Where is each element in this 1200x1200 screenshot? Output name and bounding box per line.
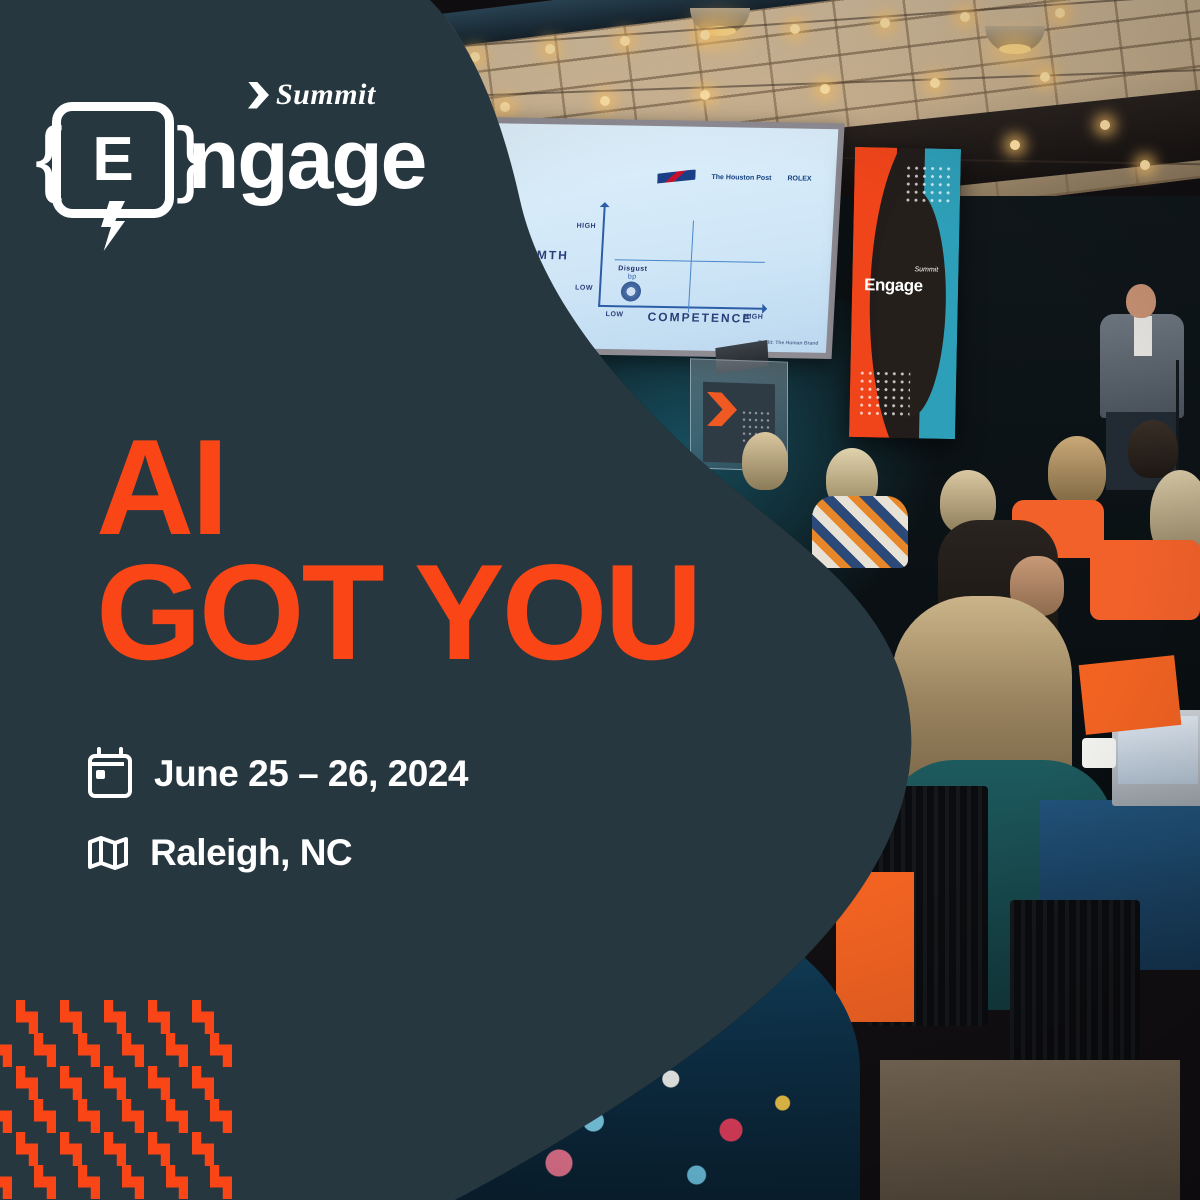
event-banner: Engage Summit: [849, 147, 961, 439]
chevron-step-unit: [0, 1099, 12, 1133]
chevron-step-unit: [104, 1132, 126, 1166]
chevron-step-unit: [122, 1165, 144, 1199]
chevron-step-glyph: [210, 1165, 232, 1199]
y-axis-label: WARMTH: [502, 247, 569, 262]
chevron-step-glyph: [60, 1132, 82, 1166]
chevron-step-glyph: [78, 1033, 100, 1067]
chevron-step-glyph: [210, 1099, 232, 1133]
chevron-step-glyph: [148, 1132, 170, 1166]
string-bulb: [790, 24, 800, 34]
x-high-label: HIGH: [744, 313, 764, 320]
chevron-step-unit: [148, 1000, 170, 1034]
event-date-row: June 25 – 26, 2024: [88, 750, 468, 798]
event-date: June 25 – 26, 2024: [154, 753, 468, 795]
chevron-step-unit: [34, 1165, 56, 1199]
tote-bag: [676, 760, 808, 866]
chevron-step-glyph: [78, 1099, 100, 1133]
calendar-day-dot: [96, 770, 105, 779]
banner-logo-text: Engage: [864, 275, 923, 296]
string-bulb: [1055, 8, 1065, 18]
poster-canvas: The Houston Post ROLEX HIGH LOW WARMTH L…: [0, 0, 1200, 1200]
string-bulb: [600, 96, 610, 106]
chevron-step-glyph: [78, 1165, 100, 1199]
calendar-tab-left: [97, 747, 101, 756]
string-bulb: [820, 84, 830, 94]
chevron-step-unit: [166, 1165, 188, 1199]
gear-icon: [620, 281, 641, 301]
chevron-step-unit: [210, 1165, 232, 1199]
logo-letter: E: [92, 129, 133, 191]
chevron-step-unit: [210, 1099, 232, 1133]
chevron-step-unit: [122, 1033, 144, 1067]
chevron-step-unit: [0, 1165, 12, 1199]
headline-line-1: AI: [96, 425, 700, 550]
chevron-step-unit: [166, 1099, 188, 1133]
chevron-step-glyph: [0, 1033, 12, 1067]
lightning-bolt-icon: [99, 201, 125, 251]
event-details: June 25 – 26, 2024 Raleigh, NC: [88, 750, 468, 908]
speaker-shirt: [1134, 316, 1152, 356]
chevron-step-unit: [34, 1033, 56, 1067]
chevron-right-icon: [707, 392, 737, 427]
string-bulb: [620, 36, 630, 46]
speech-bubble-icon: { E }: [52, 102, 174, 218]
string-bulb: [1100, 120, 1110, 130]
event-location: Raleigh, NC: [150, 832, 352, 874]
chevron-step-unit: [16, 1000, 38, 1034]
audience-person: [742, 432, 788, 490]
audience-person-floral: [430, 905, 860, 1200]
string-bulb: [545, 44, 555, 54]
calendar-tab-right: [119, 747, 123, 756]
chevron-step-glyph: [122, 1165, 144, 1199]
x-axis: [598, 305, 766, 310]
y-axis: [598, 203, 606, 307]
chevron-step-glyph: [34, 1165, 56, 1199]
chevron-step-unit: [78, 1033, 100, 1067]
tote-bag: [1079, 655, 1182, 735]
string-bulb: [500, 102, 510, 112]
engage-summit-logo[interactable]: Summit { E } ngage: [52, 72, 382, 212]
chevron-step-unit: [192, 1132, 214, 1166]
audience-person-patterned: [812, 496, 908, 568]
string-bulb: [960, 12, 970, 22]
chevron-step-glyph: [192, 1066, 214, 1100]
chevron-step-glyph: [104, 1132, 126, 1166]
logo-wordmark: { E } ngage: [52, 102, 425, 218]
chevron-step-unit: [104, 1066, 126, 1100]
gridline-vertical: [688, 221, 694, 313]
y-low-label: LOW: [575, 285, 593, 292]
chevron-step-glyph: [0, 1165, 12, 1199]
chevron-step-glyph: [122, 1033, 144, 1067]
chevron-step-unit: [104, 1000, 126, 1034]
chevron-step-unit: [210, 1033, 232, 1067]
banner-logo-suffix: Summit: [914, 266, 938, 273]
chevron-step-glyph: [16, 1132, 38, 1166]
chevron-step-unit: [34, 1099, 56, 1133]
map-icon: [88, 836, 128, 870]
chevron-step-unit: [78, 1165, 100, 1199]
tote-bag: [836, 872, 914, 1022]
string-bulb: [1040, 72, 1050, 82]
chevron-step-unit: [148, 1066, 170, 1100]
chevron-step-glyph: [60, 1066, 82, 1100]
calendar-icon: [88, 754, 132, 798]
event-location-row: Raleigh, NC: [88, 832, 468, 874]
chevron-step-glyph: [60, 1000, 82, 1034]
speaker-head: [1126, 284, 1156, 318]
chevron-step-unit: [60, 1066, 82, 1100]
annotation-title: Disgust: [618, 265, 648, 272]
chevron-step-glyph: [16, 1000, 38, 1034]
slide-brand-logos: The Houston Post ROLEX: [657, 168, 812, 187]
chevron-step-unit: [192, 1066, 214, 1100]
banner-dot-pattern: [857, 369, 910, 418]
chevron-step-glyph: [34, 1033, 56, 1067]
chevron-step-unit: [16, 1066, 38, 1100]
halftone-dot-pattern: [182, 162, 432, 220]
chevron-step-glyph: [34, 1099, 56, 1133]
chevron-step-glyph: [104, 1066, 126, 1100]
chevron-step-glyph: [192, 1132, 214, 1166]
headline-line-2: GOT YOU: [96, 550, 700, 675]
audience-person: [1128, 420, 1178, 478]
chevron-step-unit: [16, 1132, 38, 1166]
audience-person: [1048, 436, 1106, 506]
banner-dot-pattern: [904, 164, 951, 207]
headline: AI GOT YOU: [96, 425, 700, 675]
string-bulb: [700, 90, 710, 100]
string-bulb: [470, 52, 480, 62]
chevron-step-glyph: [16, 1066, 38, 1100]
chevron-step-glyph: [210, 1033, 232, 1067]
x-low-label: LOW: [605, 311, 623, 318]
chevron-step-unit: [192, 1000, 214, 1034]
string-bulb: [930, 78, 940, 88]
chevron-step-unit: [148, 1132, 170, 1166]
houston-post-logo: The Houston Post: [711, 169, 772, 186]
string-bulb: [700, 30, 710, 40]
chevron-step-unit: [60, 1000, 82, 1034]
chevron-step-unit: [78, 1099, 100, 1133]
chevron-step-glyph: [166, 1165, 188, 1199]
chevron-step-glyph: [166, 1033, 188, 1067]
chevron-step-unit: [0, 1033, 12, 1067]
rolex-logo: ROLEX: [787, 170, 812, 186]
string-bulb: [1010, 140, 1020, 150]
audience-head: [548, 880, 738, 1010]
chevron-step-glyph: [148, 1066, 170, 1100]
string-bulb: [1140, 160, 1150, 170]
coffee-mug: [1082, 738, 1116, 768]
logo-word: ngage: [188, 122, 425, 198]
usps-logo: [657, 169, 696, 185]
slide-matrix: HIGH LOW WARMTH LOW COMPETENCE HIGH Disg…: [576, 203, 772, 316]
string-bulb: [880, 18, 890, 28]
chevron-step-unit: [122, 1099, 144, 1133]
chevron-step-pattern: [0, 1000, 240, 1200]
y-high-label: HIGH: [576, 223, 596, 230]
floor: [880, 1060, 1180, 1200]
orange-chair-cover: [1090, 540, 1200, 620]
chevron-step-glyph: [166, 1099, 188, 1133]
chevron-step-unit: [166, 1033, 188, 1067]
chevron-step-glyph: [104, 1000, 126, 1034]
chevron-step-glyph: [122, 1099, 144, 1133]
annotation-sub: bp: [628, 273, 637, 280]
slide-surface: The Houston Post ROLEX HIGH LOW WARMTH L…: [478, 123, 839, 353]
chevron-step-glyph: [192, 1000, 214, 1034]
projection-screen: The Houston Post ROLEX HIGH LOW WARMTH L…: [471, 117, 844, 359]
chevron-step-glyph: [148, 1000, 170, 1034]
x-axis-label: COMPETENCE: [647, 310, 753, 326]
chevron-step-unit: [60, 1132, 82, 1166]
brace-left: {: [35, 119, 50, 197]
chevron-step-glyph: [0, 1099, 12, 1133]
